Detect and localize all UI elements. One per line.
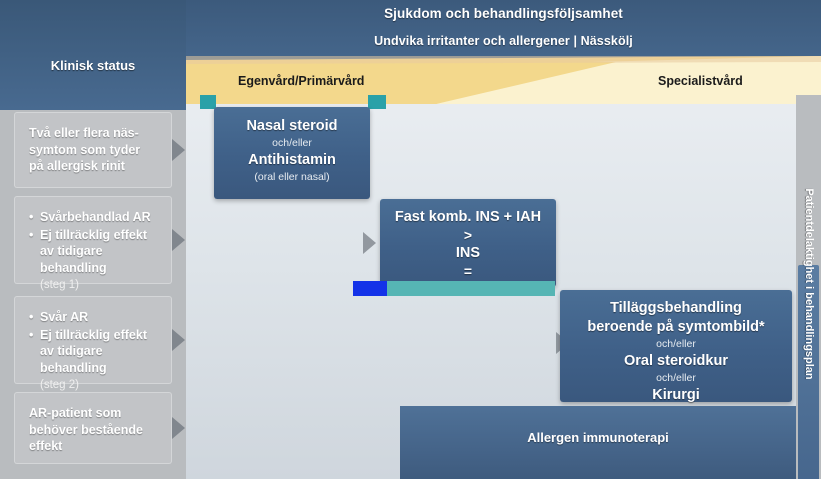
criteria-2-bullet-2: Ej tillräcklig effekt av tidigare behand… [29, 227, 157, 277]
immunotherapy-label: Allergen immunoterapi [400, 430, 796, 445]
step1-line1: Nasal steroid [214, 117, 370, 136]
step1-line2: Antihistamin [214, 151, 370, 170]
accent-chip-teal [387, 281, 555, 296]
accent-tab-left [200, 95, 216, 109]
background-left-header [0, 0, 186, 110]
step1-note: (oral eller nasal) [214, 170, 370, 185]
step3-line1: Tilläggsbehandling [560, 299, 792, 318]
criteria-3-bullet-2: Ej tillräcklig effekt av tidigare behand… [29, 327, 157, 377]
diagram-canvas: Sjukdom och behandlingsföljsamhet Undvik… [0, 0, 821, 479]
arrow-right-icon-4 [172, 417, 185, 439]
criteria-3-bullet-1: Svår AR [29, 309, 157, 326]
step3-line3: Oral steroidkur [560, 352, 792, 371]
step2-line1: Fast komb. INS + IAH [380, 208, 556, 227]
step3-conjunction-2: och/eller [560, 371, 792, 386]
criteria-4-text: AR-patient som behöver bestående effekt [29, 406, 143, 453]
treatment-box-step3[interactable]: Tilläggsbehandling beroende på symtombil… [560, 290, 792, 402]
band-avoid-irritants: Undvika irritanter och allergener | Näss… [186, 31, 821, 51]
treatment-box-step1[interactable]: Nasal steroid och/eller Antihistamin (or… [214, 107, 370, 199]
step2-line2: INS [380, 244, 556, 263]
arrow-right-icon-3 [172, 329, 185, 351]
step2-operator-1: > [380, 227, 556, 244]
care-setting-specialist-label: Specialistvård [658, 74, 743, 88]
patient-participation-label: Patientdelaktighet i behandlingsplan [803, 164, 815, 404]
step2-operator-2: = [380, 263, 556, 280]
criteria-2-list: Svårbehandlad AR Ej tillräcklig effekt a… [29, 209, 157, 276]
step1-conjunction-1: och/eller [214, 136, 370, 151]
criteria-1-text: Två eller flera näs-symtom som tyder på … [29, 126, 140, 173]
criteria-2-bullet-1: Svårbehandlad AR [29, 209, 157, 226]
criteria-2-step: (steg 1) [29, 277, 157, 294]
arrow-right-icon-2 [172, 229, 185, 251]
criteria-box-4[interactable]: AR-patient som behöver bestående effekt [14, 392, 172, 464]
arrow-right-icon-1 [172, 139, 185, 161]
step3-line2: beroende på symtombild* [560, 318, 792, 337]
accent-tab-right [368, 95, 386, 109]
criteria-box-3[interactable]: Svår AR Ej tillräcklig effekt av tidigar… [14, 296, 172, 384]
care-setting-primary-label: Egenvård/Primärvård [238, 74, 364, 88]
clinical-status-heading: Klinisk status [0, 58, 186, 73]
criteria-box-2[interactable]: Svårbehandlad AR Ej tillräcklig effekt a… [14, 196, 172, 284]
accent-chip-blue [353, 281, 387, 296]
arrow-right-icon-step1-to-step2 [363, 232, 376, 254]
step3-conjunction-1: och/eller [560, 337, 792, 352]
band-disease-adherence: Sjukdom och behandlingsföljsamhet [186, 4, 821, 24]
treatment-box-step2[interactable]: Fast komb. INS + IAH > INS = INS + OAH [380, 199, 556, 287]
step3-line4: Kirurgi [560, 386, 792, 405]
criteria-box-1[interactable]: Två eller flera näs-symtom som tyder på … [14, 112, 172, 188]
criteria-3-list: Svår AR Ej tillräcklig effekt av tidigar… [29, 309, 157, 376]
